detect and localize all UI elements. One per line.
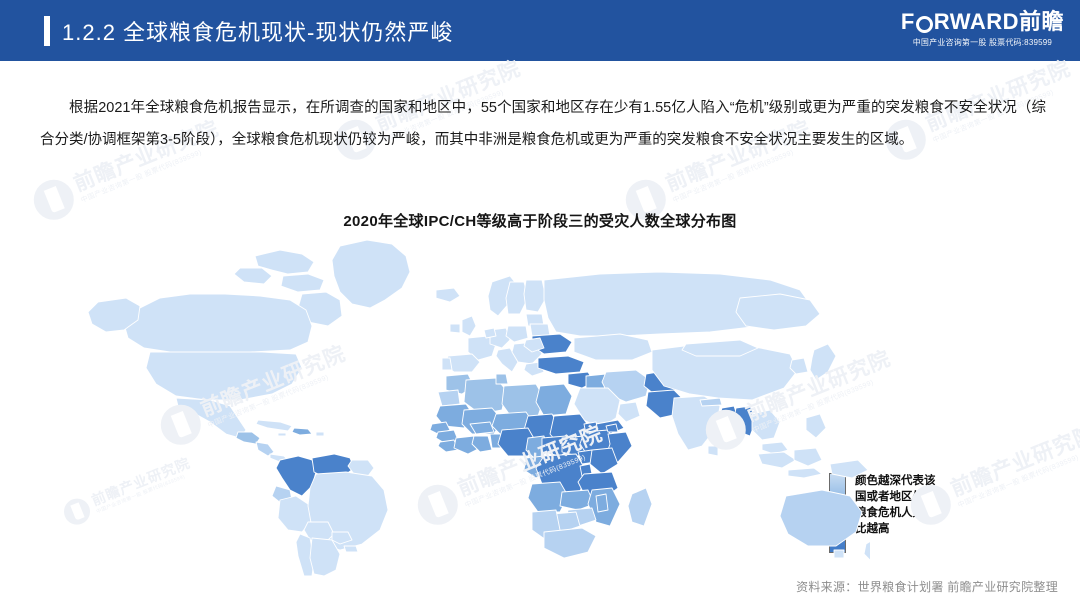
country-new-zealand — [864, 538, 870, 560]
watermark-brand: 前瞻产业研究院 — [948, 423, 1080, 501]
country-egypt — [536, 384, 572, 416]
country-haiti-dominican — [292, 428, 312, 435]
country-canada-arctic-3 — [234, 268, 272, 284]
country-south-africa — [544, 528, 596, 558]
country-oman — [618, 402, 640, 422]
country-australia — [780, 490, 862, 546]
country-finland — [524, 280, 546, 312]
brand-subtitle: 中国产业咨询第一股 股票代码:839599 — [901, 37, 1064, 48]
world-map-chart — [40, 238, 870, 578]
country-papua — [830, 460, 868, 478]
country-western-sahara — [438, 390, 460, 406]
body-paragraph: 根据2021年全球粮食危机报告显示，在所调查的国家和地区中，55个国家和地区存在… — [40, 92, 1046, 156]
brand-name: F RWARD前瞻 — [901, 9, 1064, 35]
forward-o-icon — [916, 16, 933, 33]
map-countries — [88, 240, 870, 576]
country-cuba — [256, 420, 292, 431]
country-kenya — [590, 448, 618, 474]
country-belarus — [530, 324, 550, 336]
country-greenland — [332, 240, 410, 308]
country-portugal — [442, 358, 452, 370]
country-turkey — [538, 356, 584, 374]
country-uruguay — [344, 546, 358, 552]
country-srilanka — [708, 446, 718, 456]
country-mexico — [176, 398, 246, 438]
watermark-sub: 中国产业咨询第一股 股票代码(839599) — [957, 445, 1080, 509]
country-jamaica — [278, 433, 286, 436]
world-map-svg — [40, 238, 870, 578]
brand-name-left: F — [901, 9, 915, 35]
slide-root: 前瞻产业研究院 中国产业咨询第一股 股票代码(839599) 前瞻产业研究院 中… — [0, 0, 1080, 607]
country-tunisia — [496, 374, 508, 384]
country-kazakhstan — [574, 334, 652, 360]
country-japan — [810, 344, 836, 380]
chart-title: 2020年全球IPC/CH等级高于阶段三的受灾人数全球分布图 — [0, 210, 1080, 231]
country-philippines — [806, 414, 826, 438]
country-madagascar — [628, 488, 652, 526]
country-ireland — [450, 324, 460, 333]
country-tasmania — [834, 550, 844, 558]
brand-name-right: RWARD前瞻 — [934, 9, 1064, 35]
country-canada-arctic-2 — [281, 274, 324, 292]
country-thailand-vietnam — [752, 410, 780, 440]
page-title: 1.2.2 全球粮食危机现状-现状仍然严峻 — [62, 15, 453, 47]
title-accent-bar — [44, 16, 50, 46]
country-indonesia-sumatra — [758, 452, 796, 468]
country-canada — [124, 294, 312, 352]
country-russia-east — [736, 294, 820, 330]
country-benelux-alps — [484, 328, 496, 338]
country-iceland — [436, 288, 460, 302]
country-djibouti — [606, 424, 618, 432]
country-indonesia-java — [788, 468, 822, 478]
country-united-kingdom — [462, 316, 476, 336]
country-indonesia-borneo — [794, 448, 822, 466]
slide-header: 1.2.2 全球粮食危机现状-现状仍然严峻 F RWARD前瞻 中国产业咨询第一… — [0, 0, 1080, 61]
country-united-states — [146, 352, 302, 400]
source-note: 资料来源：世界粮食计划署 前瞻产业研究院整理 — [796, 578, 1058, 595]
brand-logo: F RWARD前瞻 中国产业咨询第一股 股票代码:839599 — [901, 9, 1064, 48]
country-malawi — [596, 494, 608, 512]
country-puertorico — [316, 432, 324, 436]
